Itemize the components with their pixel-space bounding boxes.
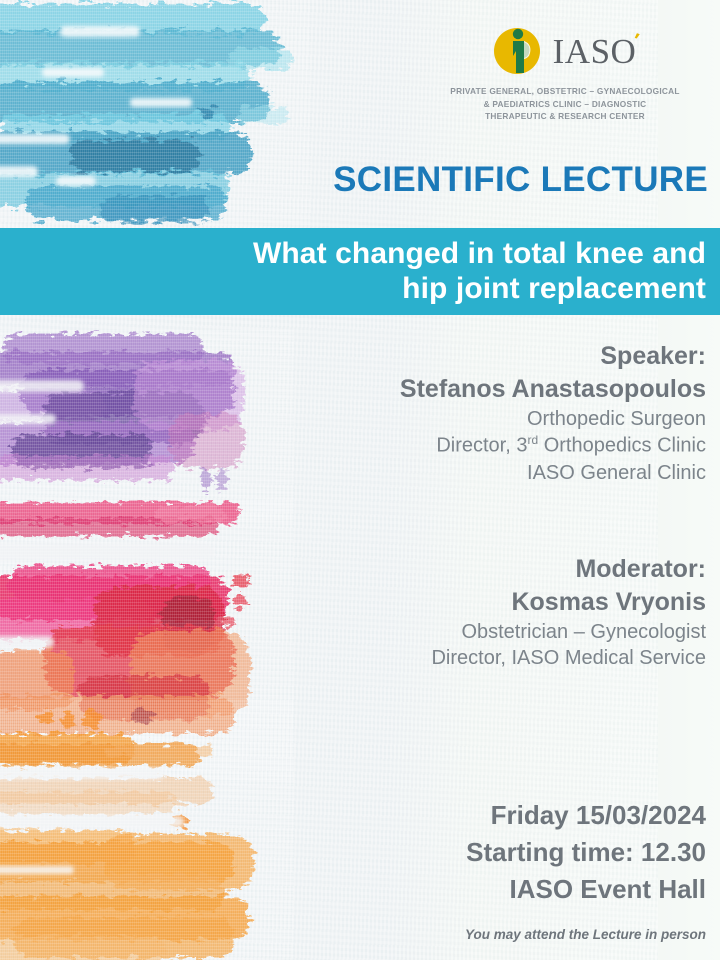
speaker-position-post: Orthopedics Clinic	[538, 435, 706, 457]
speaker-position-ordinal: rd	[527, 433, 538, 447]
speaker-name: Stefanos Anastasopoulos	[400, 373, 706, 406]
speaker-detail-clinic: IASO General Clinic	[400, 460, 706, 487]
iaso-emblem-icon	[494, 26, 544, 76]
logo-wordmark: IASO′	[553, 34, 637, 69]
speaker-block: Speaker: Stefanos Anastasopoulos Orthope…	[400, 340, 706, 487]
moderator-role-label: Moderator:	[431, 553, 706, 586]
speaker-detail-position: Director, 3rd Orthopedics Clinic	[400, 432, 706, 459]
event-venue: IASO Event Hall	[466, 871, 706, 908]
headline-scientific-lecture: SCIENTIFIC LECTURE	[333, 160, 708, 200]
lecture-title-line-2: hip joint replacement	[402, 272, 706, 307]
event-time: Starting time: 12.30	[466, 834, 706, 871]
event-date: Friday 15/03/2024	[466, 797, 706, 834]
logo-caption-line-2: & PAEDIATRICS CLINIC – DIAGNOSTIC	[430, 98, 700, 111]
poster-canvas: IASO′ PRIVATE GENERAL, OBSTETRIC – GYNAE…	[0, 0, 720, 960]
lecture-title-line-1: What changed in total knee and	[253, 237, 706, 272]
moderator-block: Moderator: Kosmas Vryonis Obstetrician –…	[431, 553, 706, 672]
logo-caption: PRIVATE GENERAL, OBSTETRIC – GYNAECOLOGI…	[430, 85, 700, 123]
event-attendance-note: You may attend the Lecture in person	[465, 927, 706, 942]
iaso-logo-area: IASO′ PRIVATE GENERAL, OBSTETRIC – GYNAE…	[430, 26, 700, 123]
speaker-position-pre: Director, 3	[436, 435, 527, 457]
logo-caption-line-3: THERAPEUTIC & RESEARCH CENTER	[430, 110, 700, 123]
speaker-role-label: Speaker:	[400, 340, 706, 373]
event-details-block: Friday 15/03/2024 Starting time: 12.30 I…	[466, 797, 706, 908]
moderator-detail-specialty: Obstetrician – Gynecologist	[431, 619, 706, 646]
logo-caption-line-1: PRIVATE GENERAL, OBSTETRIC – GYNAECOLOGI…	[430, 85, 700, 98]
lecture-title-banner: What changed in total knee and hip joint…	[0, 228, 720, 315]
logo-row: IASO′	[430, 26, 700, 76]
speaker-detail-specialty: Orthopedic Surgeon	[400, 406, 706, 433]
moderator-detail-position: Director, IASO Medical Service	[431, 645, 706, 672]
moderator-name: Kosmas Vryonis	[431, 586, 706, 619]
